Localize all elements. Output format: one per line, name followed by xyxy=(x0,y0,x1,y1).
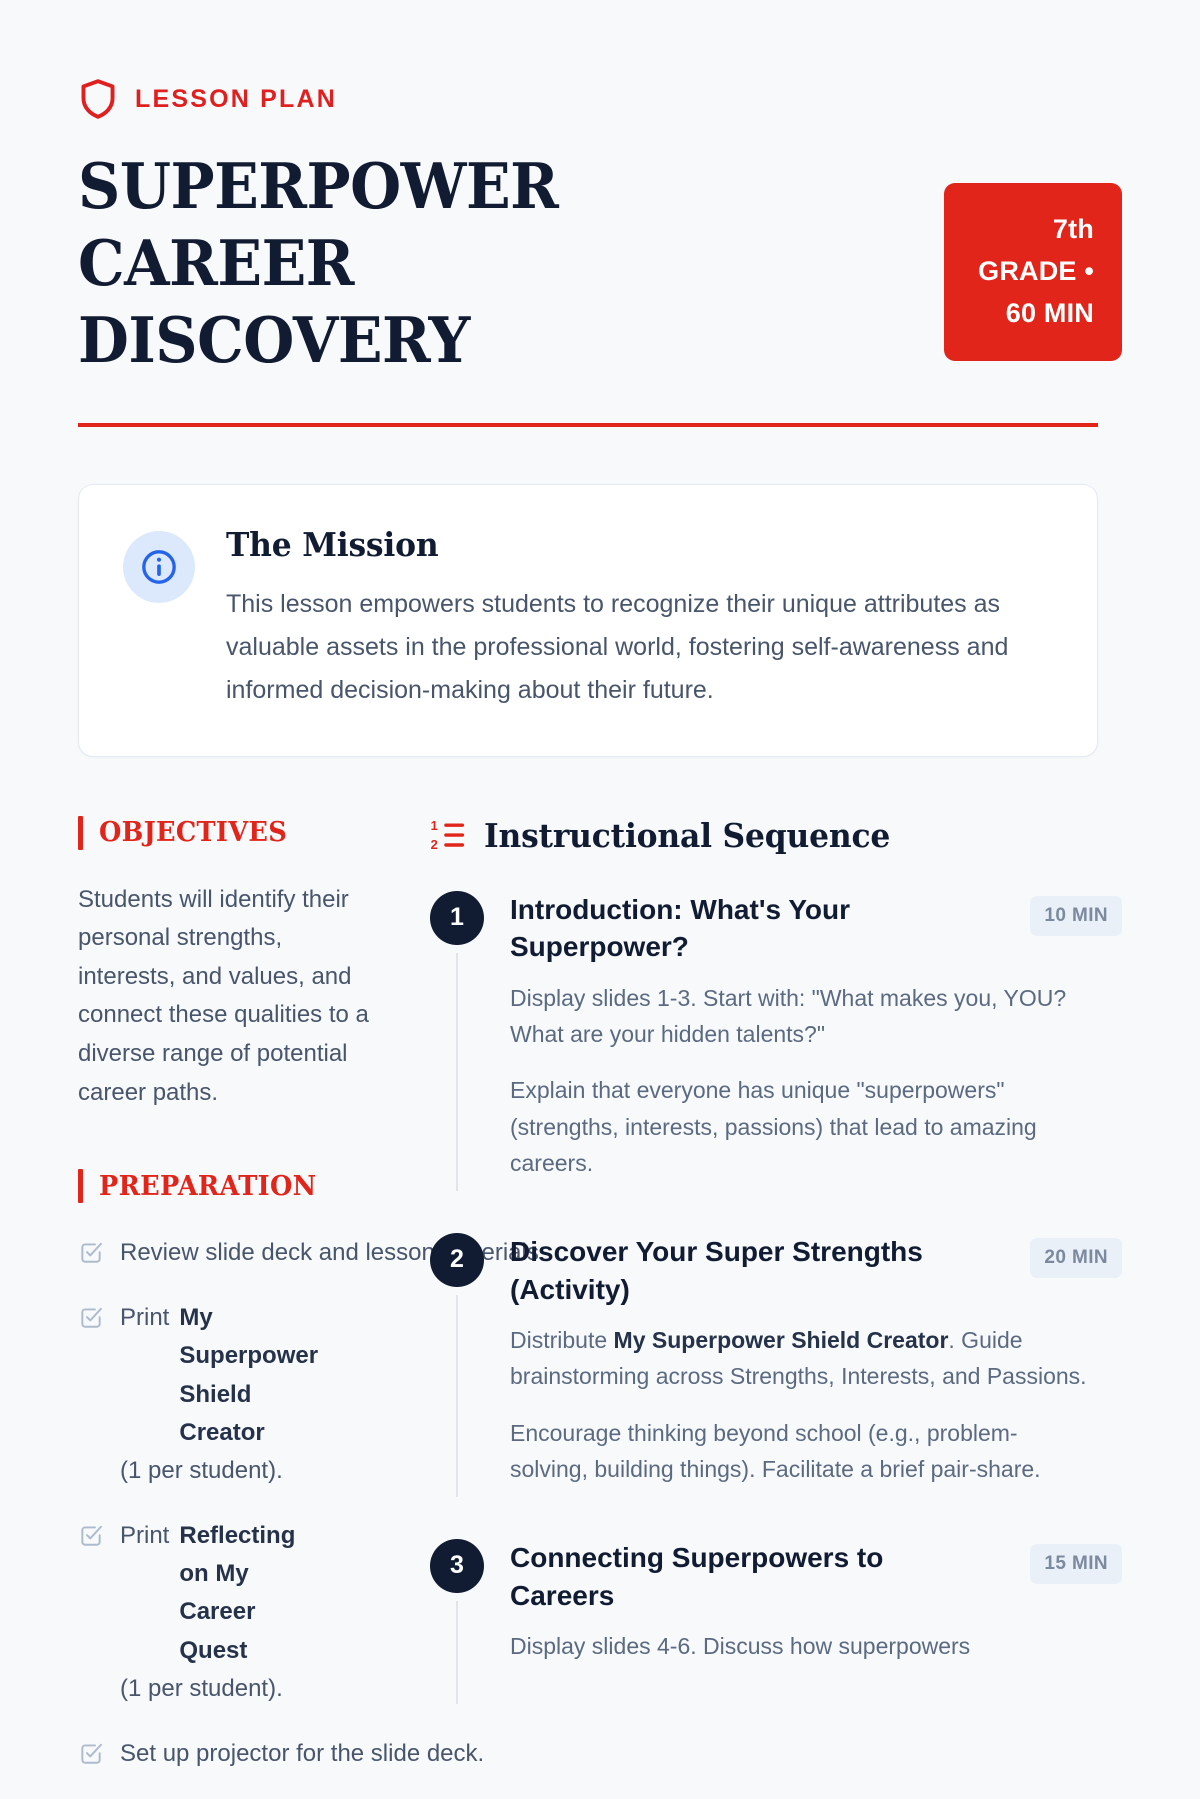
check-square-icon xyxy=(78,1239,104,1265)
info-icon-bubble xyxy=(123,531,195,603)
objectives-heading-label: OBJECTIVES xyxy=(99,817,287,848)
sequence-heading: 1 2 Instructional Sequence xyxy=(430,816,1122,855)
step-header: Introduction: What's Your Superpower? 10… xyxy=(510,891,1122,981)
step-paragraph: Explain that everyone has unique "superp… xyxy=(510,1072,1095,1180)
prep-lead: Print xyxy=(120,1299,169,1453)
sequence-step: 1 Introduction: What's Your Superpower? … xyxy=(430,891,1122,1233)
list-item-text: Print My Superpower Shield Creator (1 pe… xyxy=(120,1299,370,1491)
left-column: OBJECTIVES Students will identify their … xyxy=(78,816,370,1799)
mission-card: The Mission This lesson empowers student… xyxy=(78,484,1098,757)
lesson-plan-page: LESSON PLAN SUPERPOWER CAREER DISCOVERY … xyxy=(0,0,1200,1600)
step-marker: 2 xyxy=(430,1233,484,1487)
eyebrow-label: LESSON PLAN xyxy=(135,85,337,114)
prep-tail: (1 per student). xyxy=(120,1670,283,1708)
list-item[interactable]: Print Reflecting on My Career Quest (1 p… xyxy=(78,1517,370,1709)
step-paragraph: Display slides 4-6. Discuss how superpow… xyxy=(510,1628,1095,1664)
step-content: Introduction: What's Your Superpower? 10… xyxy=(510,891,1122,1181)
check-square-icon xyxy=(78,1740,104,1766)
step-duration-badge: 15 MIN xyxy=(1030,1544,1122,1584)
grade-badge-line-1: 7th GRADE • xyxy=(972,209,1094,293)
step-header: Discover Your Super Strengths (Activity)… xyxy=(510,1233,1122,1323)
mission-body: The Mission This lesson empowers student… xyxy=(226,525,1053,712)
mission-text: This lesson empowers students to recogni… xyxy=(226,583,1053,712)
list-item[interactable]: Set up projector for the slide deck. xyxy=(78,1735,370,1773)
list-item[interactable]: Print My Superpower Shield Creator (1 pe… xyxy=(78,1299,370,1491)
ordered-list-icon: 1 2 xyxy=(430,817,466,853)
grade-duration-badge: 7th GRADE • 60 MIN xyxy=(944,183,1122,361)
step-header: Connecting Superpowers to Careers 15 MIN xyxy=(510,1539,1122,1629)
sequence-heading-label: Instructional Sequence xyxy=(484,816,890,855)
step-title: Connecting Superpowers to Careers xyxy=(510,1539,980,1615)
step-paragraph: Encourage thinking beyond school (e.g., … xyxy=(510,1415,1095,1487)
step-connector-line xyxy=(456,1295,458,1497)
step-duration-badge: 10 MIN xyxy=(1030,896,1122,936)
check-square-icon xyxy=(78,1522,104,1548)
objectives-text: Students will identify their personal st… xyxy=(78,881,370,1113)
prep-lead: Print xyxy=(120,1517,169,1671)
step-marker: 3 xyxy=(430,1539,484,1665)
step-title: Introduction: What's Your Superpower? xyxy=(510,891,980,967)
step-paragraph: Distribute My Superpower Shield Creator.… xyxy=(510,1322,1095,1394)
svg-text:2: 2 xyxy=(431,837,438,852)
page-title: SUPERPOWER CAREER DISCOVERY xyxy=(78,148,729,379)
step-duration-badge: 20 MIN xyxy=(1030,1238,1122,1278)
check-square-icon xyxy=(78,1304,104,1330)
step-connector-line xyxy=(456,1601,458,1705)
preparation-heading-label: PREPARATION xyxy=(99,1171,316,1202)
right-column: 1 2 Instructional Sequence 1 xyxy=(430,816,1122,1799)
step-connector-line xyxy=(456,953,458,1191)
step-number: 2 xyxy=(430,1233,484,1287)
sequence-step: 3 Connecting Superpowers to Careers 15 M… xyxy=(430,1539,1122,1665)
step-content: Connecting Superpowers to Careers 15 MIN… xyxy=(510,1539,1122,1665)
step-content: Discover Your Super Strengths (Activity)… xyxy=(510,1233,1122,1487)
sequence-step: 2 Discover Your Super Strengths (Activit… xyxy=(430,1233,1122,1539)
step-marker: 1 xyxy=(430,891,484,1181)
step-title: Discover Your Super Strengths (Activity) xyxy=(510,1233,980,1309)
step-paragraph: Display slides 1-3. Start with: "What ma… xyxy=(510,980,1095,1052)
content-columns: OBJECTIVES Students will identify their … xyxy=(78,816,1122,1799)
prep-tail: (1 per student). xyxy=(120,1452,283,1490)
info-circle-icon xyxy=(139,547,179,587)
eyebrow-row: LESSON PLAN xyxy=(78,78,1122,120)
accent-bar xyxy=(78,816,83,850)
preparation-heading: PREPARATION xyxy=(78,1169,370,1203)
sequence-steps: 1 Introduction: What's Your Superpower? … xyxy=(430,891,1122,1665)
grade-badge-line-2: 60 MIN xyxy=(972,293,1094,335)
step-number: 1 xyxy=(430,891,484,945)
shield-icon xyxy=(78,78,118,120)
header-divider xyxy=(78,423,1098,427)
step-paragraph-pre: Distribute xyxy=(510,1327,614,1353)
prep-material-name: My Superpower Shield Creator xyxy=(179,1299,301,1453)
objectives-heading: OBJECTIVES xyxy=(78,816,370,850)
prep-material-name: Reflecting on My Career Quest xyxy=(179,1517,301,1671)
step-number: 3 xyxy=(430,1539,484,1593)
title-row: SUPERPOWER CAREER DISCOVERY 7th GRADE • … xyxy=(78,148,1122,379)
list-item-text: Print Reflecting on My Career Quest (1 p… xyxy=(120,1517,370,1709)
accent-bar xyxy=(78,1169,83,1203)
list-item[interactable]: Review slide deck and lesson materials. xyxy=(78,1234,370,1272)
svg-text:1: 1 xyxy=(431,818,438,833)
mission-title: The Mission xyxy=(226,525,1012,564)
preparation-list: Review slide deck and lesson materials. … xyxy=(78,1234,370,1773)
step-paragraph-bold: My Superpower Shield Creator xyxy=(614,1327,949,1353)
